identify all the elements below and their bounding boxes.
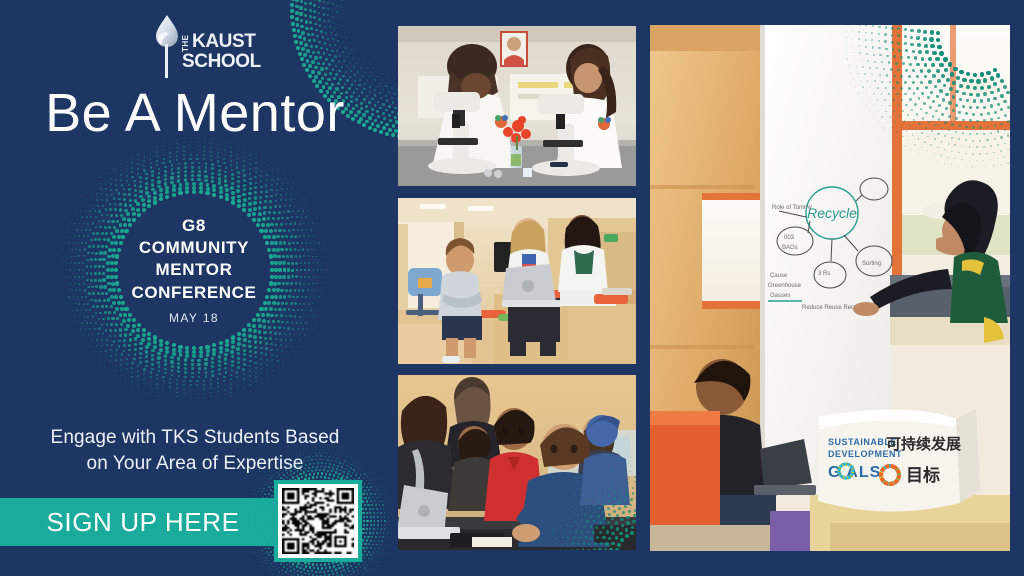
logo-the-text: THE <box>182 34 190 52</box>
sign-up-label: SIGN UP HERE <box>46 507 239 538</box>
sign-up-button[interactable]: SIGN UP HERE <box>0 498 286 546</box>
badge-line-conference: CONFERENCE <box>131 282 256 304</box>
svg-text:3 Rs: 3 Rs <box>818 271 830 277</box>
logo-school-text: SCHOOL <box>182 53 261 71</box>
svg-text:Recycle: Recycle <box>807 205 857 221</box>
svg-text:Role of Tommy: Role of Tommy <box>772 205 812 211</box>
photo-students-laptops <box>398 375 636 550</box>
logo-kaust-text: KAUST <box>192 33 255 51</box>
qr-code[interactable] <box>274 480 362 562</box>
logo-stem <box>165 44 168 78</box>
photo-whiteboard-recycle: Recycle Role of Tommy 003 BAGs Cause Gre… <box>650 25 1010 551</box>
svg-text:G ALS: G ALS <box>828 464 881 481</box>
svg-text:BAGs: BAGs <box>782 245 798 251</box>
qr-code-image <box>282 488 354 554</box>
qr-code-area[interactable] <box>262 466 388 576</box>
svg-text:003: 003 <box>784 235 795 241</box>
photo-students-on-steps <box>398 198 636 364</box>
photo-microscope-lab-image <box>398 26 636 186</box>
conference-badge: G8 COMMUNITY MENTOR CONFERENCE MAY 18 <box>60 170 328 370</box>
page-title: Be A Mentor <box>0 82 390 144</box>
svg-text:目标: 目标 <box>906 465 940 486</box>
subtitle-line-1: Engage with TKS Students Based <box>51 427 340 448</box>
svg-text:Cause: Cause <box>770 273 788 279</box>
svg-text:Greenhouse: Greenhouse <box>768 283 802 289</box>
svg-text:可持续发展: 可持续发展 <box>886 435 961 453</box>
photo-whiteboard-recycle-image: Recycle Role of Tommy 003 BAGs Cause Gre… <box>650 25 1010 551</box>
photo-students-laptops-image <box>398 375 636 550</box>
poster-canvas: THE KAUST SCHOOL Be A Mentor G8 COMMUNIT… <box>0 0 1024 576</box>
school-logo: THE KAUST SCHOOL <box>134 14 244 80</box>
left-content-panel: THE KAUST SCHOOL Be A Mentor G8 COMMUNIT… <box>0 0 390 576</box>
photo-microscope-lab <box>398 26 636 186</box>
badge-date: MAY 18 <box>169 311 219 325</box>
conference-badge-text: G8 COMMUNITY MENTOR CONFERENCE MAY 18 <box>60 170 328 370</box>
badge-line-mentor: MENTOR <box>156 259 233 281</box>
svg-text:Sorting: Sorting <box>862 261 881 267</box>
photo-students-on-steps-image <box>398 198 636 364</box>
badge-line-community: COMMUNITY <box>139 237 249 259</box>
svg-text:Gasses: Gasses <box>770 293 790 299</box>
water-droplet-torch-icon <box>154 14 180 48</box>
badge-line-g8: G8 <box>182 215 206 237</box>
